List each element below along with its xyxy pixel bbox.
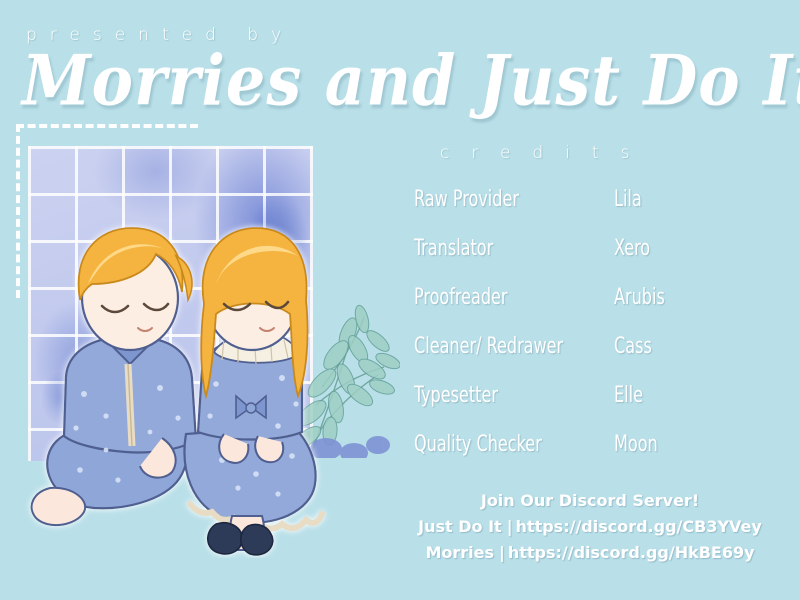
discord-invite-link[interactable]: https://discord.gg/CB3YVey <box>516 517 762 536</box>
credit-name: Elle <box>614 382 643 408</box>
studio-title: Morries and Just Do It <box>22 42 782 120</box>
credit-row: Proofreader Arubis <box>414 284 744 333</box>
discord-invite-link[interactable]: https://discord.gg/HkBE69y <box>508 543 755 562</box>
credits-page: presented by Morries and Just Do It <box>0 0 800 600</box>
credit-row: Cleaner/ Redrawer Cass <box>414 333 744 382</box>
credit-row: Raw Provider Lila <box>414 186 744 235</box>
credit-role: Translator <box>414 235 493 261</box>
credit-role: Proofreader <box>414 284 508 310</box>
discord-invite-heading: Join Our Discord Server! <box>390 488 790 514</box>
credit-row: Translator Xero <box>414 235 744 284</box>
credit-role: Typesetter <box>414 382 498 408</box>
credit-name: Arubis <box>614 284 665 310</box>
discord-separator: | <box>499 543 505 562</box>
illustration-artwork <box>0 118 395 563</box>
credits-list: Raw Provider Lila Translator Xero Proofr… <box>414 186 744 480</box>
discord-server-row: Just Do It|https://discord.gg/CB3YVey <box>390 514 790 540</box>
discord-server-row: Morries|https://discord.gg/HkBE69y <box>390 540 790 566</box>
credit-name: Cass <box>614 333 652 359</box>
character-illustration <box>10 188 350 558</box>
credit-name: Xero <box>614 235 650 261</box>
credit-name: Lila <box>614 186 642 212</box>
credit-name: Moon <box>614 431 658 457</box>
credit-row: Typesetter Elle <box>414 382 744 431</box>
discord-server-label: Just Do It <box>418 517 502 536</box>
credit-role: Raw Provider <box>414 186 519 212</box>
credit-role: Cleaner/ Redrawer <box>414 333 563 359</box>
credit-role: Quality Checker <box>414 431 542 457</box>
discord-separator: | <box>507 517 513 536</box>
credit-row: Quality Checker Moon <box>414 431 744 480</box>
discord-server-label: Morries <box>425 543 494 562</box>
credits-heading: credits <box>440 143 651 163</box>
discord-invite-block: Join Our Discord Server! Just Do It|http… <box>390 488 790 566</box>
